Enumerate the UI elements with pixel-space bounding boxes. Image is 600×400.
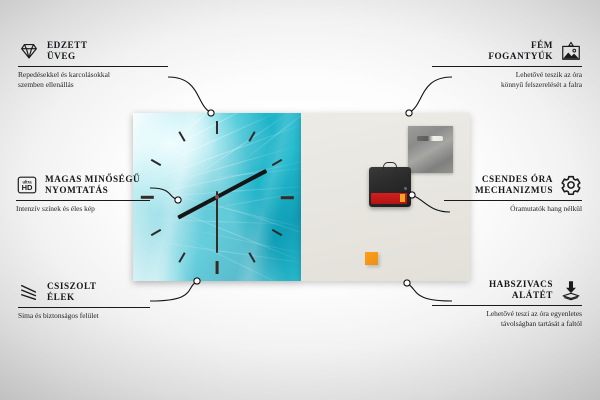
- polished-edges-icon: [18, 281, 40, 303]
- mechanism-loop: [383, 162, 397, 170]
- clock-mechanism-part: [369, 167, 411, 207]
- callout-tempered-glass: EDZETT ÜVEG Repedésekkel és karcolásokka…: [18, 40, 168, 89]
- clock-front-face: [133, 113, 301, 281]
- callout-title: FÉM FOGANTYÚK: [488, 40, 553, 63]
- callout-header: ultra HD MAGAS MINŐSÉGŰ NYOMTATÁS: [16, 174, 150, 197]
- mechanism-label: [371, 193, 407, 204]
- callout-silent-mechanism: CSENDES ÓRA MECHANIZMUS Óramutatók hang …: [444, 174, 582, 214]
- callout-rule: [18, 66, 168, 67]
- callout-rule: [18, 307, 150, 308]
- callout-description: Intenzív színek és éles kép: [16, 204, 150, 214]
- product-image: [133, 113, 470, 281]
- callout-description: Óramutatók hang nélkül: [444, 204, 582, 214]
- callout-description: Repedésekkel és karcolásokkal szemben el…: [18, 70, 168, 89]
- callout-foam-pad: HABSZIVACS ALÁTÉT Lehetővé teszi az óra …: [432, 279, 582, 328]
- ultra-hd-icon: ultra HD: [16, 174, 38, 196]
- picture-hanger-icon: [560, 40, 582, 62]
- callout-polished-edges: CSISZOLT ÉLEK Sima és biztonságos felüle…: [18, 281, 150, 321]
- callout-high-quality-print: ultra HD MAGAS MINŐSÉGŰ NYOMTATÁS Intenz…: [16, 174, 150, 214]
- callout-rule: [16, 200, 150, 201]
- foam-pad-icon: [560, 279, 582, 301]
- infographic-canvas: EDZETT ÜVEG Repedésekkel és karcolásokka…: [0, 0, 600, 400]
- callout-description: Lehetővé teszik az óra könnyű felszerelé…: [432, 70, 582, 89]
- callout-title: HABSZIVACS ALÁTÉT: [489, 279, 553, 302]
- callout-header: EDZETT ÜVEG: [18, 40, 168, 63]
- foam-pad-part: [365, 252, 378, 265]
- callout-header: CSISZOLT ÉLEK: [18, 281, 150, 304]
- callout-rule: [432, 66, 582, 67]
- hanger-slot: [417, 136, 443, 141]
- callout-description: Lehetővé teszi az óra egyenletes távolsá…: [432, 309, 582, 328]
- mechanism-dot: [404, 187, 407, 190]
- gear-icon: [560, 174, 582, 196]
- callout-title: MAGAS MINŐSÉGŰ NYOMTATÁS: [45, 174, 140, 197]
- second-hand: [216, 191, 218, 253]
- metal-hanger-part: [408, 126, 453, 173]
- hour-marker: [280, 196, 293, 199]
- callout-metal-handles: FÉM FOGANTYÚK Lehetővé teszik az óra kön…: [432, 40, 582, 89]
- hour-marker: [216, 121, 219, 134]
- diamond-icon: [18, 40, 40, 62]
- hour-marker: [216, 261, 219, 274]
- callout-description: Sima és biztonságos felület: [18, 311, 150, 321]
- callout-rule: [432, 305, 582, 306]
- callout-header: HABSZIVACS ALÁTÉT: [432, 279, 582, 302]
- clock-hub: [215, 195, 219, 199]
- callout-header: CSENDES ÓRA MECHANIZMUS: [444, 174, 582, 197]
- connector-line-3: [150, 282, 196, 301]
- callout-title: EDZETT ÜVEG: [47, 40, 88, 63]
- callout-title: CSENDES ÓRA MECHANIZMUS: [475, 174, 553, 197]
- callout-title: CSISZOLT ÉLEK: [47, 281, 97, 304]
- callout-rule: [444, 200, 582, 201]
- ultra-hd-icon-bottom-text: HD: [22, 184, 33, 193]
- connector-line-1: [168, 77, 210, 112]
- callout-header: FÉM FOGANTYÚK: [432, 40, 582, 63]
